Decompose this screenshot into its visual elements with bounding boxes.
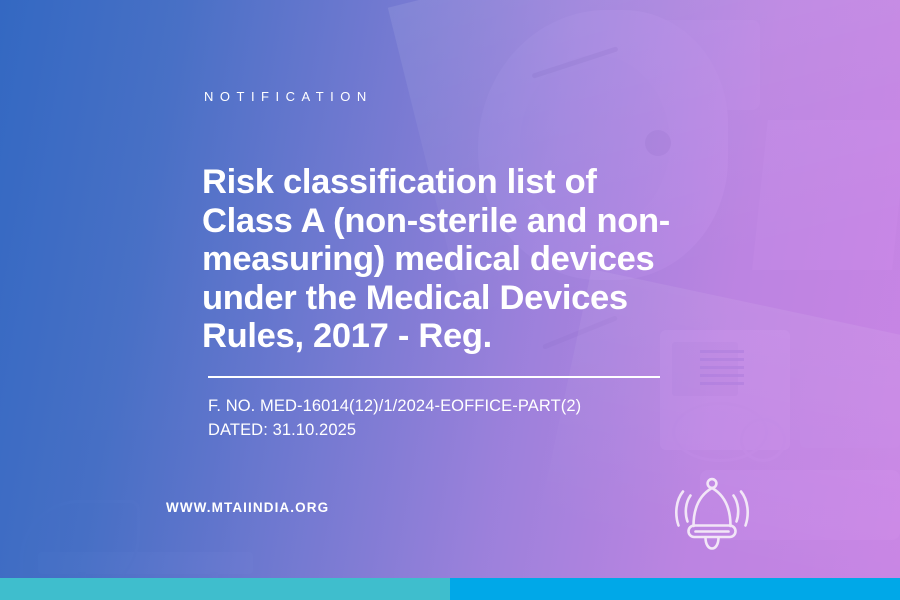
page-title: Risk classification list of Class A (non… (202, 163, 672, 356)
kicker-label: NOTIFICATION (204, 89, 373, 104)
bottom-bar-blue-segment (450, 578, 900, 600)
file-number: F. NO. MED-16014(12)/1/2024-EOFFICE-PART… (208, 394, 581, 418)
bottom-accent-bar (0, 578, 900, 600)
notification-banner: NOTIFICATION Risk classification list of… (0, 0, 900, 600)
notification-bell-icon (662, 462, 762, 562)
title-divider (208, 376, 660, 378)
website-url: WWW.MTAIINDIA.ORG (166, 500, 329, 515)
notification-meta: F. NO. MED-16014(12)/1/2024-EOFFICE-PART… (208, 394, 581, 442)
banner-content: NOTIFICATION Risk classification list of… (0, 0, 900, 600)
bottom-bar-teal-segment (0, 578, 450, 600)
notification-date: DATED: 31.10.2025 (208, 418, 581, 442)
